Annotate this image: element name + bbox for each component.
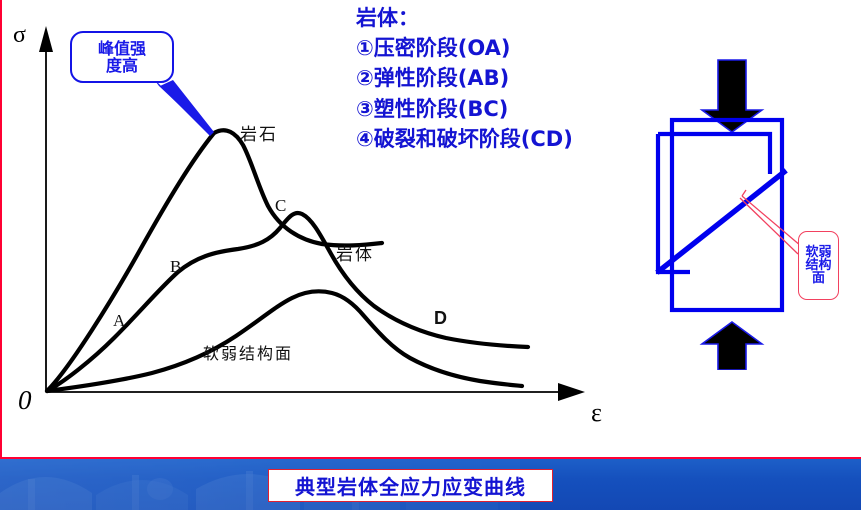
x-axis-label: ε <box>591 398 602 428</box>
y-axis <box>39 26 53 392</box>
callout-peak-strength: 峰值强 度高 <box>70 31 174 83</box>
curve-label-rock: 岩石 <box>240 120 278 145</box>
banner-title-text: 典型岩体全应力应变曲线 <box>295 471 526 500</box>
y-axis-label: σ <box>13 22 26 49</box>
point-label-b: B <box>170 257 181 277</box>
callout-weak-line-1: 软弱 <box>805 246 831 259</box>
curve-label-rock-mass: 岩体 <box>336 240 374 265</box>
callout-peak-line-1: 峰值强 <box>98 40 146 57</box>
legend-item-3: ③塑性阶段(BC) <box>356 94 573 124</box>
point-label-d: D <box>434 308 447 329</box>
slide-canvas: σ ε 0 A B C D 岩石 岩体 软弱结构面 峰值强 度高 岩体： ①压密… <box>0 0 861 510</box>
block-diagram-svg <box>630 40 861 370</box>
point-label-c: C <box>275 196 286 216</box>
legend-title: 岩体： <box>356 3 573 33</box>
callout-leader-lines <box>153 78 214 136</box>
legend-item-1: ①压密阶段(OA) <box>356 33 573 63</box>
callout-weak-line-3: 面 <box>812 272 825 285</box>
origin-label: 0 <box>18 385 32 416</box>
curve-label-weak-plane: 软弱结构面 <box>203 340 293 364</box>
legend-item-2: ②弹性阶段(AB) <box>356 63 573 93</box>
point-label-a: A <box>113 311 125 331</box>
rock-block-diagram <box>630 40 861 370</box>
callout-peak-line-2: 度高 <box>106 57 138 74</box>
callout-weak-structural-plane: 软弱 结构 面 <box>798 231 839 300</box>
block-displaced-outline <box>658 134 770 272</box>
callout-weak-line-2: 结构 <box>805 259 831 272</box>
legend-item-4: ④破裂和破坏阶段(CD) <box>356 124 573 154</box>
arrow-up-icon <box>702 322 762 370</box>
banner-title-box: 典型岩体全应力应变曲线 <box>268 469 553 502</box>
stage-legend: 岩体： ①压密阶段(OA) ②弹性阶段(AB) ③塑性阶段(BC) ④破裂和破坏… <box>356 3 573 154</box>
